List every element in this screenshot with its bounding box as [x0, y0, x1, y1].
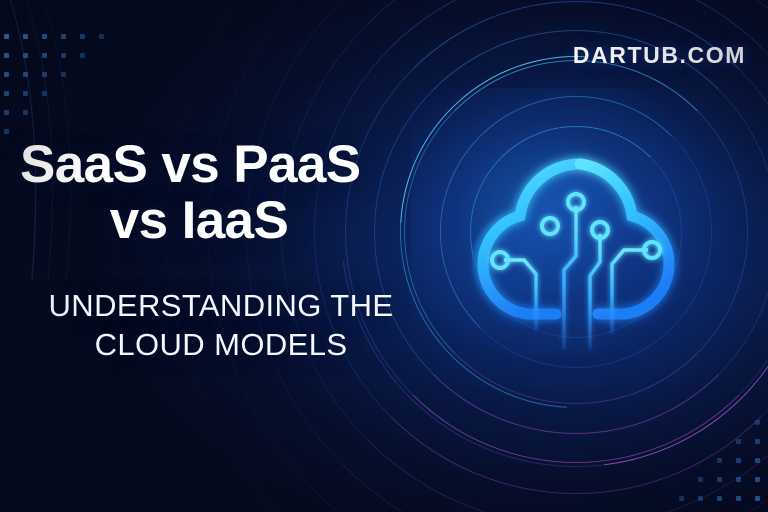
grid-dot — [736, 496, 741, 501]
page-title-line-2: vs IaaS — [20, 193, 440, 249]
grid-dot — [80, 34, 85, 39]
grid-dot — [42, 34, 47, 39]
grid-dot — [755, 420, 760, 425]
grid-dot — [42, 72, 47, 77]
grid-dot — [4, 129, 9, 134]
page-subtitle-line-2: CLOUD MODELS — [20, 325, 440, 364]
dot-grid-bottom-right — [660, 420, 768, 512]
grid-dot — [698, 496, 703, 501]
page-subtitle-line-1: UNDERSTANDING THE — [20, 286, 440, 325]
grid-dot — [736, 477, 741, 482]
grid-dot — [99, 34, 104, 39]
promo-banner: DARTUB.COM SaaS vs PaaS vs IaaS UNDERSTA… — [0, 0, 768, 512]
grid-dot — [23, 53, 28, 58]
grid-dot — [755, 439, 760, 444]
brand-watermark: DARTUB.COM — [573, 42, 746, 69]
grid-dot — [4, 91, 9, 96]
grid-dot — [4, 72, 9, 77]
grid-dot — [61, 72, 66, 77]
grid-dot — [679, 496, 684, 501]
page-subtitle: UNDERSTANDING THE CLOUD MODELS — [20, 286, 440, 364]
grid-dot — [42, 53, 47, 58]
grid-dot — [61, 53, 66, 58]
grid-dot — [698, 477, 703, 482]
grid-dot — [736, 439, 741, 444]
grid-dot — [61, 34, 66, 39]
grid-dot — [42, 91, 47, 96]
grid-dot — [23, 110, 28, 115]
grid-dot — [736, 458, 741, 463]
page-title-line-1: SaaS vs PaaS — [20, 137, 440, 193]
grid-dot — [80, 53, 85, 58]
grid-dot — [4, 110, 9, 115]
dot-grid-top-left — [4, 34, 124, 144]
cloud-circuit-icon — [452, 138, 706, 360]
grid-dot — [23, 91, 28, 96]
grid-dot — [717, 477, 722, 482]
grid-dot — [755, 477, 760, 482]
grid-dot — [4, 34, 9, 39]
grid-dot — [717, 458, 722, 463]
grid-dot — [23, 34, 28, 39]
page-title: SaaS vs PaaS vs IaaS — [20, 137, 440, 249]
grid-dot — [23, 72, 28, 77]
grid-dot — [4, 53, 9, 58]
grid-dot — [755, 496, 760, 501]
grid-dot — [717, 496, 722, 501]
grid-dot — [755, 458, 760, 463]
